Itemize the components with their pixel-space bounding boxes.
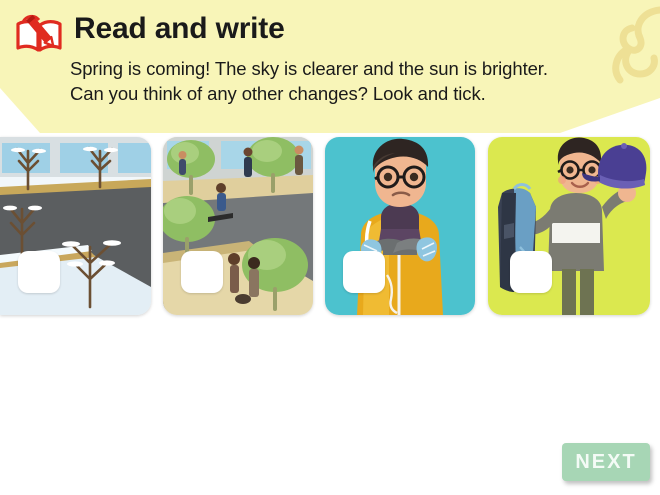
- tick-checkbox-1[interactable]: [18, 251, 60, 293]
- image-card-spring-street[interactable]: [163, 137, 313, 315]
- instructions-text: Spring is coming! The sky is clearer and…: [70, 57, 570, 106]
- next-button[interactable]: NEXT: [562, 443, 650, 481]
- tick-checkbox-3[interactable]: [343, 251, 385, 293]
- image-card-winter-street[interactable]: [0, 137, 151, 315]
- image-card-boy-cold[interactable]: [325, 137, 475, 315]
- tick-checkbox-2[interactable]: [181, 251, 223, 293]
- tick-checkbox-4[interactable]: [510, 251, 552, 293]
- lesson-slide: Read and write Spring is coming! The sky…: [0, 0, 660, 495]
- book-and-pencil-icon: [14, 10, 68, 56]
- decorative-swirl-icon: [582, 0, 660, 86]
- page-header: Read and write: [14, 8, 285, 56]
- image-card-boy-light-clothes[interactable]: [488, 137, 650, 315]
- image-card-row: [0, 137, 660, 317]
- page-title: Read and write: [74, 14, 285, 44]
